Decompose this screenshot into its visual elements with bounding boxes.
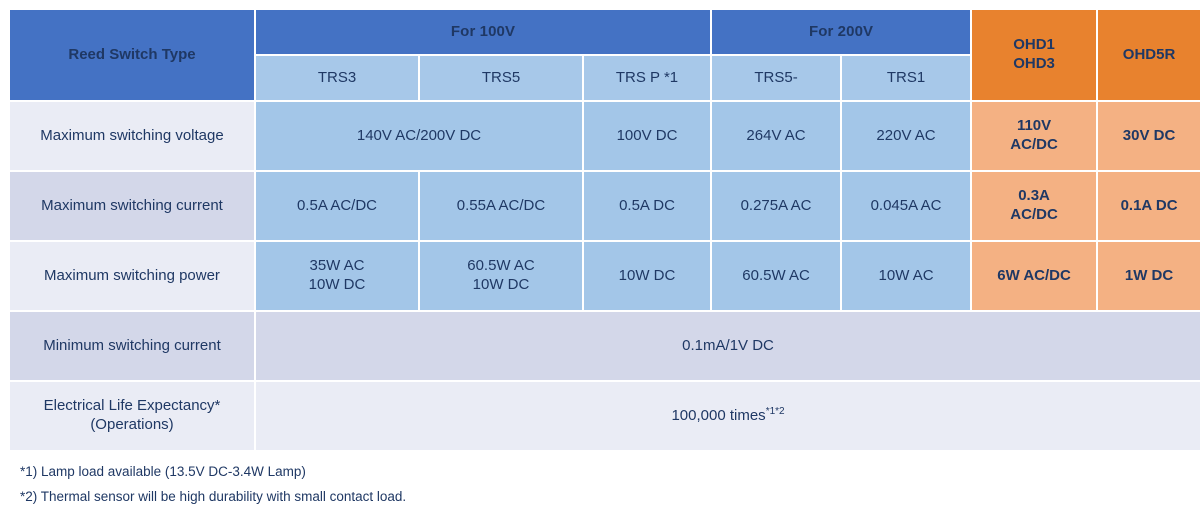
- cell-power-ohd1-ohd3: 6W AC/DC: [972, 242, 1096, 310]
- cell-line2: 10W DC: [423, 276, 579, 295]
- cell-line1: 60.5W AC: [423, 257, 579, 276]
- footnote-1: *1) Lamp load available (13.5V DC-3.4W L…: [20, 464, 1192, 480]
- cell-min-switching-current-value: 0.1mA/1V DC: [256, 312, 1200, 380]
- cell-line1: 0.3A: [975, 187, 1093, 206]
- group-header-for-200v: For 200V: [712, 10, 970, 54]
- cell-line2: 10W DC: [259, 276, 415, 295]
- table-row: Maximum switching voltage 140V AC/200V D…: [10, 102, 1200, 170]
- cell-power-trs3: 35W AC 10W DC: [256, 242, 418, 310]
- row-label-line1: Electrical Life Expectancy*: [13, 397, 251, 416]
- cell-power-ohd5r: 1W DC: [1098, 242, 1200, 310]
- cell-power-trs5-dash: 60.5W AC: [712, 242, 840, 310]
- row-label-max-switching-power: Maximum switching power: [10, 242, 254, 310]
- subheader-trs5: TRS5: [420, 56, 582, 100]
- corner-header-cell: Reed Switch Type: [10, 10, 254, 100]
- cell-current-ohd5r: 0.1A DC: [1098, 172, 1200, 240]
- subheader-trs5-dash: TRS5-: [712, 56, 840, 100]
- cell-line2: AC/DC: [975, 206, 1093, 225]
- cell-value-footnote-marker: *1*2: [766, 406, 785, 417]
- footnotes-block: *1) Lamp load available (13.5V DC-3.4W L…: [8, 464, 1192, 504]
- cell-voltage-trs3-trs5: 140V AC/200V DC: [256, 102, 582, 170]
- header-row-groups: Reed Switch Type For 100V For 200V OHD1 …: [10, 10, 1200, 54]
- cell-current-ohd1-ohd3: 0.3A AC/DC: [972, 172, 1096, 240]
- group-header-for-100v: For 100V: [256, 10, 710, 54]
- footnote-2: *2) Thermal sensor will be high durabili…: [20, 489, 1192, 505]
- row-label-max-switching-voltage: Maximum switching voltage: [10, 102, 254, 170]
- cell-voltage-trs1: 220V AC: [842, 102, 970, 170]
- ohd3-label: OHD3: [975, 55, 1093, 74]
- cell-current-trs-p: 0.5A DC: [584, 172, 710, 240]
- row-label-electrical-life-expectancy: Electrical Life Expectancy* (Operations): [10, 382, 254, 450]
- subheader-trs1: TRS1: [842, 56, 970, 100]
- column-header-ohd5r: OHD5R: [1098, 10, 1200, 100]
- cell-voltage-trs5-dash: 264V AC: [712, 102, 840, 170]
- cell-line1: 110V: [975, 117, 1093, 136]
- cell-line2: AC/DC: [975, 136, 1093, 155]
- cell-electrical-life-value: 100,000 times*1*2: [256, 382, 1200, 450]
- ohd1-label: OHD1: [975, 36, 1093, 55]
- table-row: Maximum switching power 35W AC 10W DC 60…: [10, 242, 1200, 310]
- cell-value-text: 100,000 times: [671, 407, 765, 424]
- cell-voltage-ohd5r: 30V DC: [1098, 102, 1200, 170]
- row-label-line2: (Operations): [13, 416, 251, 435]
- cell-line1: 35W AC: [259, 257, 415, 276]
- cell-power-trs5: 60.5W AC 10W DC: [420, 242, 582, 310]
- subheader-trs3: TRS3: [256, 56, 418, 100]
- table-row: Electrical Life Expectancy* (Operations)…: [10, 382, 1200, 450]
- cell-power-trs-p: 10W DC: [584, 242, 710, 310]
- column-header-ohd1-ohd3: OHD1 OHD3: [972, 10, 1096, 100]
- cell-voltage-trs-p: 100V DC: [584, 102, 710, 170]
- cell-power-trs1: 10W AC: [842, 242, 970, 310]
- row-label-max-switching-current: Maximum switching current: [10, 172, 254, 240]
- cell-current-trs5-dash: 0.275A AC: [712, 172, 840, 240]
- spec-table-sheet: Reed Switch Type For 100V For 200V OHD1 …: [0, 0, 1200, 527]
- cell-voltage-ohd1-ohd3: 110V AC/DC: [972, 102, 1096, 170]
- row-label-min-switching-current: Minimum switching current: [10, 312, 254, 380]
- cell-current-trs1: 0.045A AC: [842, 172, 970, 240]
- cell-current-trs5: 0.55A AC/DC: [420, 172, 582, 240]
- table-row: Minimum switching current 0.1mA/1V DC: [10, 312, 1200, 380]
- subheader-trs-p: TRS P *1: [584, 56, 710, 100]
- table-row: Maximum switching current 0.5A AC/DC 0.5…: [10, 172, 1200, 240]
- reed-switch-spec-table: Reed Switch Type For 100V For 200V OHD1 …: [8, 8, 1200, 452]
- cell-current-trs3: 0.5A AC/DC: [256, 172, 418, 240]
